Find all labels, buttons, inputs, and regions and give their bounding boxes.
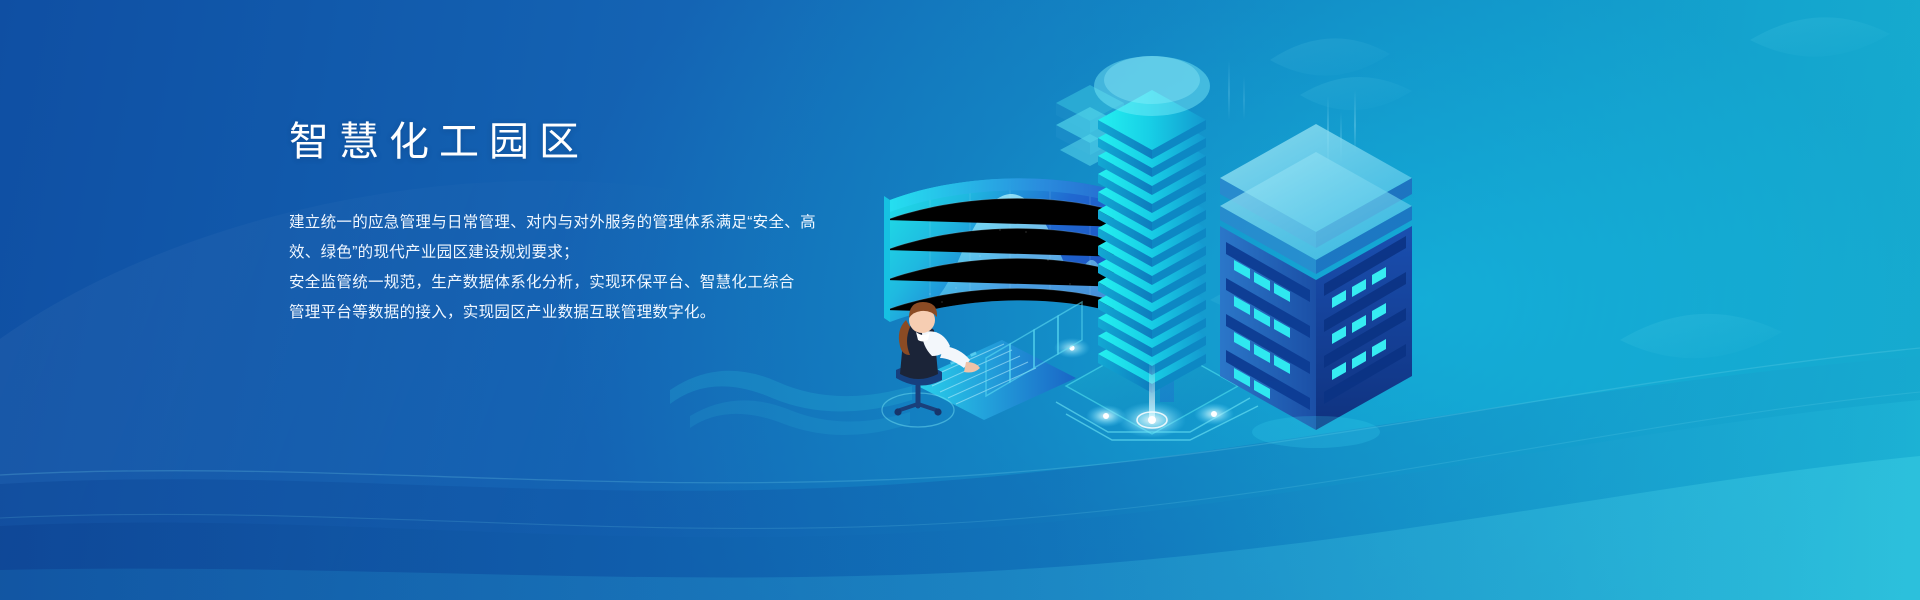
banner-text-block: 智慧化工园区 建立统一的应急管理与日常管理、对内与对外服务的管理体系满足“安全、… (289, 120, 929, 328)
page-title: 智慧化工园区 (289, 120, 929, 164)
smart-park-illustration (860, 30, 1420, 460)
description-line: 安全监管统一规范，生产数据体系化分析，实现环保平台、智慧化工综合 (289, 268, 929, 298)
hero-banner: 智慧化工园区 建立统一的应急管理与日常管理、对内与对外服务的管理体系满足“安全、… (0, 0, 1920, 600)
description-line: 效、绿色”的现代产业园区建设规划要求； (289, 238, 929, 268)
illustration-svg (860, 30, 1420, 460)
banner-description: 建立统一的应急管理与日常管理、对内与对外服务的管理体系满足“安全、高 效、绿色”… (289, 208, 929, 328)
description-line: 管理平台等数据的接入，实现园区产业数据互联管理数字化。 (289, 298, 929, 328)
description-line: 建立统一的应急管理与日常管理、对内与对外服务的管理体系满足“安全、高 (289, 208, 929, 238)
